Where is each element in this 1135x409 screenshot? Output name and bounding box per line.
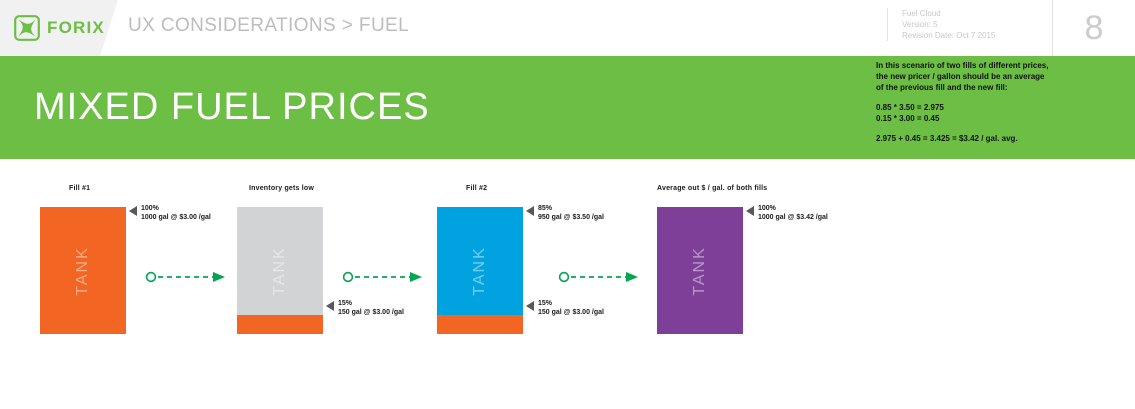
callout-bottom: 15%150 gal @ $3.00 /gal — [326, 299, 404, 317]
explanation-line-2: the new pricer / gallon should be an ave… — [876, 71, 1076, 82]
callout-detail: 150 gal @ $3.00 /gal — [538, 308, 604, 317]
stage-caption: Fill #2 — [466, 185, 487, 192]
fuel-diagram: Fill #1TANK100%1000 gal @ $3.00 /galInve… — [0, 159, 1135, 409]
logo-text: FORIX — [47, 18, 105, 38]
tank-segment-orange — [237, 315, 323, 334]
calculation-result: 2.975 + 0.45 = 3.425 = $3.42 / gal. avg. — [876, 133, 1076, 144]
forix-star-icon — [14, 15, 40, 41]
callout-arrow-icon — [129, 206, 137, 216]
tank-average: TANK — [657, 207, 743, 334]
result-prefix: 2.975 + 0.45 = 3.425 = — [876, 134, 959, 143]
callout-arrow-icon — [326, 301, 334, 311]
tank-label: TANK — [271, 246, 289, 295]
callout-top: 100%1000 gal @ $3.42 /gal — [746, 204, 828, 222]
callout-bottom: 15%150 gal @ $3.00 /gal — [526, 299, 604, 317]
callout-text: 100%1000 gal @ $3.00 /gal — [141, 204, 211, 222]
connector-2-to-3 — [342, 270, 424, 282]
page-number-container: 8 — [1052, 0, 1135, 56]
page-number: 8 — [1085, 11, 1104, 45]
callout-text: 85%950 gal @ $3.50 /gal — [538, 204, 604, 222]
stage-caption: Average out $ / gal. of both fills — [657, 185, 767, 192]
meta-project: Fuel Cloud — [902, 8, 1037, 19]
callout-detail: 150 gal @ $3.00 /gal — [338, 308, 404, 317]
explanation-line-3: of the previous fill and the new fill: — [876, 82, 1076, 93]
callout-percent: 15% — [538, 299, 604, 308]
callout-percent: 85% — [538, 204, 604, 213]
connector-3-to-4 — [558, 270, 640, 282]
calculation-line-1: 0.85 * 3.50 = 2.975 — [876, 102, 1076, 113]
callout-percent: 100% — [141, 204, 211, 213]
document-meta: Fuel Cloud Version: 5 Revision Date: Oct… — [887, 8, 1037, 41]
callout-text: 100%1000 gal @ $3.42 /gal — [758, 204, 828, 222]
tank-label: TANK — [74, 246, 92, 295]
callout-percent: 100% — [758, 204, 828, 213]
callout-top: 100%1000 gal @ $3.00 /gal — [129, 204, 211, 222]
callout-text: 15%150 gal @ $3.00 /gal — [338, 299, 404, 317]
explanation-block: In this scenario of two fills of differe… — [876, 60, 1076, 144]
slide-header: FORIX UX CONSIDERATIONS > FUEL Fuel Clou… — [0, 0, 1135, 56]
callout-detail: 1000 gal @ $3.42 /gal — [758, 213, 828, 222]
meta-version: Version: 5 — [902, 19, 1037, 30]
connector-1-to-2 — [145, 270, 227, 282]
callout-arrow-icon — [526, 206, 534, 216]
stage-caption: Inventory gets low — [249, 185, 314, 192]
explanation-line-1: In this scenario of two fills of differe… — [876, 60, 1076, 71]
callout-arrow-icon — [526, 301, 534, 311]
callout-top: 85%950 gal @ $3.50 /gal — [526, 204, 604, 222]
callout-percent: 15% — [338, 299, 404, 308]
result-value: $3.42 / gal. avg. — [959, 134, 1018, 143]
tank-inventory-low: TANK — [237, 207, 323, 334]
tank-label: TANK — [691, 246, 709, 295]
callout-detail: 1000 gal @ $3.00 /gal — [141, 213, 211, 222]
slide-canvas: FORIX UX CONSIDERATIONS > FUEL Fuel Clou… — [0, 0, 1135, 409]
callout-arrow-icon — [746, 206, 754, 216]
stage-caption: Fill #1 — [69, 185, 90, 192]
breadcrumb: UX CONSIDERATIONS > FUEL — [128, 15, 409, 37]
page-title: MIXED FUEL PRICES — [34, 86, 430, 129]
tank-label: TANK — [471, 246, 489, 295]
tank-fill-1: TANK — [40, 207, 126, 334]
tank-segment-orange — [437, 315, 523, 334]
callout-detail: 950 gal @ $3.50 /gal — [538, 213, 604, 222]
tank-fill-2: TANK — [437, 207, 523, 334]
callout-text: 15%150 gal @ $3.00 /gal — [538, 299, 604, 317]
calculation-line-2: 0.15 * 3.00 = 0.45 — [876, 113, 1076, 124]
meta-revision-date: Revision Date: Oct 7 2015 — [902, 30, 1037, 41]
logo-plate[interactable]: FORIX — [0, 0, 118, 56]
